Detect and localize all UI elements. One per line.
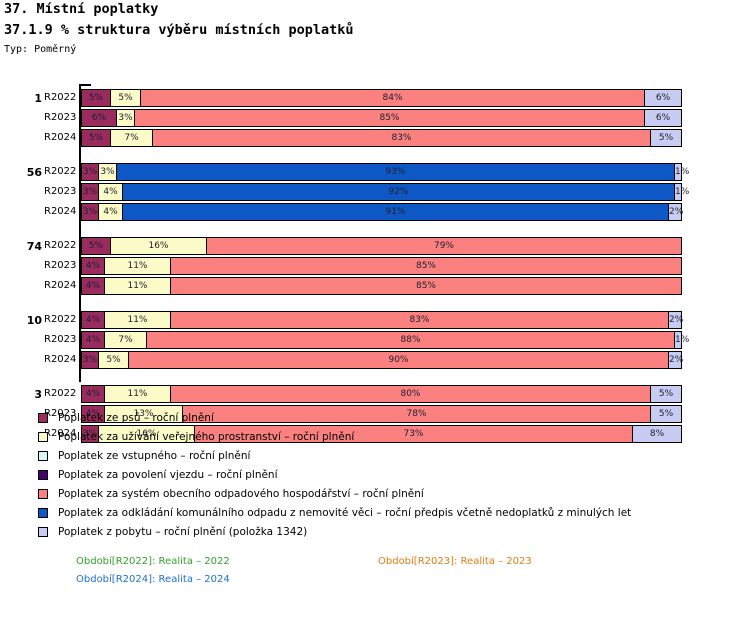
chart-row-label: R2023 — [44, 331, 76, 349]
bar-segment-value: 93% — [385, 168, 405, 177]
bar-segment-value: 4% — [103, 188, 117, 197]
chart-row-label: R2022 — [44, 311, 76, 329]
bar-segment-value: 85% — [379, 114, 399, 123]
chart-bar-row[interactable]: R20224%11%83%2% — [0, 311, 750, 329]
bar-segment-value: 5% — [89, 94, 103, 103]
legend-item[interactable]: Poplatek za užívání veřejného prostranst… — [38, 428, 738, 447]
bar-segment[interactable]: 11% — [105, 386, 171, 402]
bar-segment-value: 5% — [106, 356, 120, 365]
bar-segment[interactable]: 5% — [99, 352, 129, 368]
legend-item[interactable]: Poplatek ze psů – roční plnění — [38, 409, 738, 428]
bar-segment[interactable]: 84% — [141, 90, 645, 106]
bar-segment[interactable]: 5% — [651, 386, 681, 402]
bar-segment-value: 88% — [401, 336, 421, 345]
bar-segment[interactable]: 4% — [81, 386, 105, 402]
legend-item[interactable]: Poplatek za odkládání komunálního odpadu… — [38, 504, 738, 523]
bar-segment-value: 4% — [86, 282, 100, 291]
stacked-bar[interactable]: 5%5%84%6% — [81, 89, 682, 107]
chart-group: 56R20223%3%93%1%R20233%4%92%1%R20243%4%9… — [0, 163, 750, 223]
bar-segment[interactable]: 1% — [675, 164, 681, 180]
bar-segment[interactable]: 11% — [105, 312, 171, 328]
bar-segment-value: 91% — [385, 208, 405, 217]
bar-segment-value: 90% — [388, 356, 408, 365]
chart-bar-row[interactable]: R20236%3%85%6% — [0, 109, 750, 127]
chart-bar-row[interactable]: R20224%11%80%5% — [0, 385, 750, 403]
bar-segment[interactable]: 83% — [171, 312, 669, 328]
bar-segment[interactable]: 91% — [123, 204, 669, 220]
bar-segment[interactable]: 5% — [81, 130, 111, 146]
legend-item-label: Poplatek za odkládání komunálního odpadu… — [58, 504, 631, 523]
bar-segment-value: 2% — [669, 208, 683, 217]
chart-row-label: R2024 — [44, 129, 76, 147]
chart-row-label: R2023 — [44, 109, 76, 127]
bar-segment-value: 92% — [388, 188, 408, 197]
stacked-bar[interactable]: 5%16%79% — [81, 237, 682, 255]
chart-bar-row[interactable]: R20225%5%84%6% — [0, 89, 750, 107]
bar-segment-value: 2% — [669, 356, 683, 365]
bar-segment[interactable]: 85% — [171, 258, 681, 274]
bar-segment-value: 85% — [416, 262, 436, 271]
chart-bar-row[interactable]: R20243%5%90%2% — [0, 351, 750, 369]
bar-segment[interactable]: 3% — [99, 164, 117, 180]
bar-segment-value: 5% — [89, 242, 103, 251]
bar-segment[interactable]: 2% — [669, 204, 681, 220]
bar-segment[interactable]: 16% — [111, 238, 207, 254]
bar-segment-value: 6% — [656, 114, 670, 123]
bar-segment[interactable]: 6% — [645, 110, 681, 126]
bar-segment-value: 4% — [103, 208, 117, 217]
bar-segment[interactable]: 3% — [117, 110, 135, 126]
stacked-bar[interactable]: 4%11%85% — [81, 277, 682, 295]
legend-item-label: Poplatek z pobytu – roční plnění (položk… — [58, 523, 307, 542]
chart-bar-row[interactable]: R20234%7%88%1% — [0, 331, 750, 349]
chart-group: 1R20225%5%84%6%R20236%3%85%6%R20245%7%83… — [0, 89, 750, 149]
chart-row-label: R2024 — [44, 203, 76, 221]
bar-segment-value: 5% — [659, 134, 673, 143]
bar-segment[interactable]: 93% — [117, 164, 675, 180]
stacked-bar[interactable]: 6%3%85%6% — [81, 109, 682, 127]
bar-segment-value: 83% — [391, 134, 411, 143]
bar-segment-value: 11% — [127, 262, 147, 271]
legend-item[interactable]: Poplatek za systém obecního odpadového h… — [38, 485, 738, 504]
bar-segment[interactable]: 5% — [81, 238, 111, 254]
bar-segment[interactable]: 1% — [675, 332, 681, 348]
bar-segment-value: 5% — [89, 134, 103, 143]
bar-segment-value: 16% — [148, 242, 168, 251]
chart-group: 10R20224%11%83%2%R20234%7%88%1%R20243%5%… — [0, 311, 750, 371]
bar-segment[interactable]: 92% — [123, 184, 675, 200]
bar-segment-value: 4% — [86, 262, 100, 271]
swatch-icon — [38, 413, 48, 423]
chart-bar-row[interactable]: R20234%11%85% — [0, 257, 750, 275]
chart-group: 74R20225%16%79%R20234%11%85%R20244%11%85… — [0, 237, 750, 297]
bar-segment-value: 4% — [86, 390, 100, 399]
bar-segment-value: 7% — [118, 336, 132, 345]
legend-item[interactable]: Poplatek ze vstupného – roční plnění — [38, 447, 738, 466]
stacked-bar[interactable]: 3%3%93%1% — [81, 163, 682, 181]
chart-row-label: R2024 — [44, 277, 76, 295]
bar-segment-value: 84% — [383, 94, 403, 103]
bar-segment-value: 1% — [675, 336, 689, 345]
chart-bar-row[interactable]: R20244%11%85% — [0, 277, 750, 295]
bar-segment[interactable]: 5% — [111, 90, 141, 106]
report-title: 37. Místní poplatky — [4, 1, 158, 17]
bar-segment-value: 11% — [127, 316, 147, 325]
bar-segment[interactable]: 11% — [105, 278, 171, 294]
swatch-icon — [38, 432, 48, 442]
bar-segment-value: 4% — [86, 316, 100, 325]
bar-segment[interactable]: 4% — [99, 184, 123, 200]
stacked-bar[interactable]: 3%4%92%1% — [81, 183, 682, 201]
bar-segment-value: 4% — [86, 336, 100, 345]
stacked-bar[interactable]: 4%7%88%1% — [81, 331, 682, 349]
legend-item-label: Poplatek za systém obecního odpadového h… — [58, 485, 424, 504]
chart-row-label: R2022 — [44, 163, 76, 181]
bar-segment-value: 1% — [675, 188, 689, 197]
bar-segment[interactable]: 7% — [105, 332, 147, 348]
chart-row-label: R2023 — [44, 257, 76, 275]
bar-segment[interactable]: 5% — [81, 90, 111, 106]
bar-segment-value: 3% — [83, 208, 97, 217]
bar-segment[interactable]: 3% — [81, 184, 99, 200]
legend-item-label: Poplatek za užívání veřejného prostranst… — [58, 428, 354, 447]
swatch-icon — [38, 470, 48, 480]
swatch-icon — [38, 508, 48, 518]
bar-segment-value: 6% — [92, 114, 106, 123]
period-legend-item: Období[R2024]: Realita – 2024 — [76, 574, 230, 585]
bar-segment[interactable]: 90% — [129, 352, 669, 368]
bar-segment-value: 83% — [409, 316, 429, 325]
chart-legend: Poplatek ze psů – roční plněníPoplatek z… — [38, 409, 738, 542]
swatch-icon — [38, 451, 48, 461]
bar-segment[interactable]: 5% — [651, 130, 681, 146]
bar-segment[interactable]: 4% — [81, 258, 105, 274]
chart-row-label: R2022 — [44, 385, 76, 403]
bar-segment[interactable]: 88% — [147, 332, 675, 348]
stacked-bar[interactable]: 4%11%85% — [81, 257, 682, 275]
bar-segment-value: 85% — [416, 282, 436, 291]
chart-bar-row[interactable]: R20245%7%83%5% — [0, 129, 750, 147]
bar-segment-value: 11% — [127, 390, 147, 399]
stacked-bar[interactable]: 5%7%83%5% — [81, 129, 682, 147]
chart-bar-row[interactable]: R20233%4%92%1% — [0, 183, 750, 201]
bar-segment[interactable]: 4% — [81, 332, 105, 348]
bar-segment-value: 5% — [118, 94, 132, 103]
bar-segment[interactable]: 85% — [135, 110, 645, 126]
bar-segment[interactable]: 79% — [207, 238, 681, 254]
bar-segment-value: 6% — [656, 94, 670, 103]
legend-item-label: Poplatek ze vstupného – roční plnění — [58, 447, 250, 466]
bar-segment[interactable]: 4% — [99, 204, 123, 220]
bar-segment-value: 11% — [127, 282, 147, 291]
bar-segment-value: 3% — [83, 188, 97, 197]
chart-row-label: R2024 — [44, 351, 76, 369]
chart-axis-tick — [79, 84, 91, 86]
swatch-icon — [38, 489, 48, 499]
report-type-label: Typ: Poměrný — [4, 44, 76, 55]
stacked-bar[interactable]: 3%4%91%2% — [81, 203, 682, 221]
bar-segment[interactable]: 3% — [81, 164, 99, 180]
chart-row-label: R2022 — [44, 89, 76, 107]
bar-segment[interactable]: 83% — [153, 130, 651, 146]
bar-segment[interactable]: 11% — [105, 258, 171, 274]
stacked-bar[interactable]: 4%11%83%2% — [81, 311, 682, 329]
report-subtitle-title: 37.1.9 % struktura výběru místních popla… — [4, 22, 354, 38]
bar-segment-value: 80% — [400, 390, 420, 399]
chart-plot-area: 1R20225%5%84%6%R20236%3%85%6%R20245%7%83… — [0, 84, 750, 389]
bar-segment[interactable]: 1% — [675, 184, 681, 200]
bar-segment-value: 5% — [659, 390, 673, 399]
chart-bar-row[interactable]: R20223%3%93%1% — [0, 163, 750, 181]
legend-item[interactable]: Poplatek z pobytu – roční plnění (položk… — [38, 523, 738, 542]
bar-segment-value: 3% — [83, 356, 97, 365]
bar-segment[interactable]: 3% — [81, 352, 99, 368]
bar-segment[interactable]: 6% — [81, 110, 117, 126]
bar-segment[interactable]: 2% — [669, 352, 681, 368]
stacked-bar[interactable]: 3%5%90%2% — [81, 351, 682, 369]
bar-segment-value: 3% — [100, 168, 114, 177]
period-legend-item: Období[R2022]: Realita – 2022 — [76, 556, 230, 567]
legend-item[interactable]: Poplatek za povolení vjezdu – roční plně… — [38, 466, 738, 485]
bar-segment-value: 7% — [124, 134, 138, 143]
bar-segment-value: 3% — [118, 114, 132, 123]
chart-bar-row[interactable]: R20225%16%79% — [0, 237, 750, 255]
bar-segment[interactable]: 3% — [81, 204, 99, 220]
chart-row-label: R2022 — [44, 237, 76, 255]
legend-item-label: Poplatek za povolení vjezdu – roční plně… — [58, 466, 278, 485]
legend-item-label: Poplatek ze psů – roční plnění — [58, 409, 214, 428]
bar-segment[interactable]: 2% — [669, 312, 681, 328]
bar-segment[interactable]: 7% — [111, 130, 153, 146]
chart-bar-row[interactable]: R20243%4%91%2% — [0, 203, 750, 221]
swatch-icon — [38, 527, 48, 537]
bar-segment[interactable]: 85% — [171, 278, 681, 294]
bar-segment-value: 2% — [669, 316, 683, 325]
bar-segment[interactable]: 4% — [81, 312, 105, 328]
bar-segment-value: 3% — [83, 168, 97, 177]
period-legend-item: Období[R2023]: Realita – 2023 — [378, 556, 532, 567]
bar-segment[interactable]: 4% — [81, 278, 105, 294]
bar-segment-value: 1% — [675, 168, 689, 177]
bar-segment[interactable]: 80% — [171, 386, 651, 402]
stacked-bar[interactable]: 4%11%80%5% — [81, 385, 682, 403]
chart-row-label: R2023 — [44, 183, 76, 201]
bar-segment[interactable]: 6% — [645, 90, 681, 106]
bar-segment-value: 79% — [434, 242, 454, 251]
